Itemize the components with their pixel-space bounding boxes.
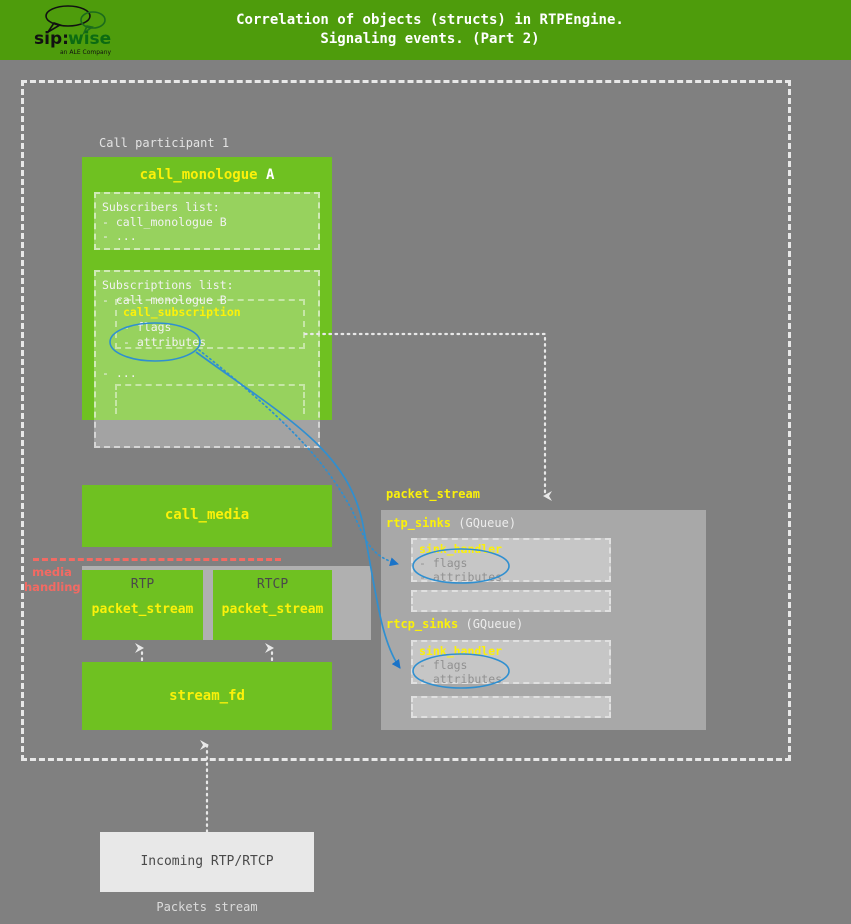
media-handling-divider [33,558,281,561]
rtcp-sink-handler-attributes: - attributes [419,672,609,686]
rtp-sinks-empty-slot [411,590,611,612]
stream-fd-title: stream_fd [82,688,332,704]
stream-fd-box: stream_fd [82,662,332,730]
rtcp-packet-stream-box: RTCP packet_stream [213,570,332,640]
rtp-sink-handler-attributes: - attributes [419,570,609,584]
call-media-title: call_media [82,507,332,523]
rtcp-sink-handler-flags: - flags [419,658,609,672]
rtcp-sinks-empty-slot [411,696,611,718]
rtcp-sinks-heading: rtcp_sinks (GQueue) [386,617,523,631]
rtcp-sink-handler-box: sink_handler - flags - attributes [411,640,611,684]
rtcp-struct-label: packet_stream [213,602,332,617]
packet-stream-panel-label: packet_stream [386,487,480,501]
rtp-struct-label: packet_stream [82,602,203,617]
subscribers-item-1: - ... [102,229,318,244]
incoming-rtp-rtcp-label: Incoming RTP/RTCP [100,854,314,869]
call-participant-label: Call participant 1 [99,136,229,150]
rtp-sinks-type: (GQueue) [451,516,516,530]
subscriptions-next-entry-stub [115,384,305,414]
call-subscription-field-flags: - flags [123,320,303,335]
call-subscription-title: call_subscription [123,305,303,320]
subscribers-list-box: Subscribers list: - call_monologue B - .… [94,192,320,250]
media-handling-label-line2: handling [24,580,80,595]
media-handling-label-line1: media [24,565,80,580]
subscribers-item-0: - call_monologue B [102,215,318,230]
logo-svg: sip: wise an ALE Company [30,2,130,58]
subscriptions-list-box: Subscriptions list: - call monologue B c… [94,270,320,448]
call-monologue-title-name: call_monologue [140,167,258,183]
subscriptions-heading: Subscriptions list: [102,278,318,293]
logo-text-wise: wise [68,29,111,49]
rtp-packet-stream-box: RTP packet_stream [82,570,203,640]
call-subscription-box: call_subscription - flags - attributes [115,299,305,349]
sipwise-logo: sip: wise an ALE Company [30,2,130,58]
call-monologue-title-suffix: A [258,167,275,183]
rtp-sink-handler-title: sink_handler [419,542,609,556]
packet-stream-panel: rtp_sinks (GQueue) sink_handler - flags … [381,510,706,730]
rtp-sinks-name: rtp_sinks [386,516,451,530]
rtcp-sink-handler-title: sink_handler [419,644,609,658]
rtcp-kind-label: RTCP [213,577,332,592]
rtcp-sinks-type: (GQueue) [458,617,523,631]
rtp-sinks-heading: rtp_sinks (GQueue) [386,516,516,530]
rtp-sink-handler-flags: - flags [419,556,609,570]
rtp-sink-handler-box: sink_handler - flags - attributes [411,538,611,582]
incoming-rtp-rtcp-box: Incoming RTP/RTCP [100,832,314,892]
header-title-line1: Correlation of objects (structs) in RTPE… [236,11,624,30]
call-subscription-field-attributes: - attributes [123,335,303,350]
subscriptions-more: - ... [102,366,137,381]
header-titles: Correlation of objects (structs) in RTPE… [150,0,710,60]
logo-tagline: an ALE Company [60,49,112,56]
call-media-box: call_media [82,485,332,547]
call-monologue-title: call_monologue A [82,167,332,183]
rtcp-sinks-name: rtcp_sinks [386,617,458,631]
call-monologue-box: call_monologue A Subscribers list: - cal… [82,157,332,420]
app-header: sip: wise an ALE Company Correlation of … [0,0,851,60]
subscribers-heading: Subscribers list: [102,200,318,215]
logo-text-sip: sip: [34,29,69,49]
rtp-kind-label: RTP [82,577,203,592]
media-handling-label: media handling [24,565,80,595]
header-title-line2: Signaling events. (Part 2) [320,30,539,49]
packets-stream-caption: Packets stream [100,900,314,914]
